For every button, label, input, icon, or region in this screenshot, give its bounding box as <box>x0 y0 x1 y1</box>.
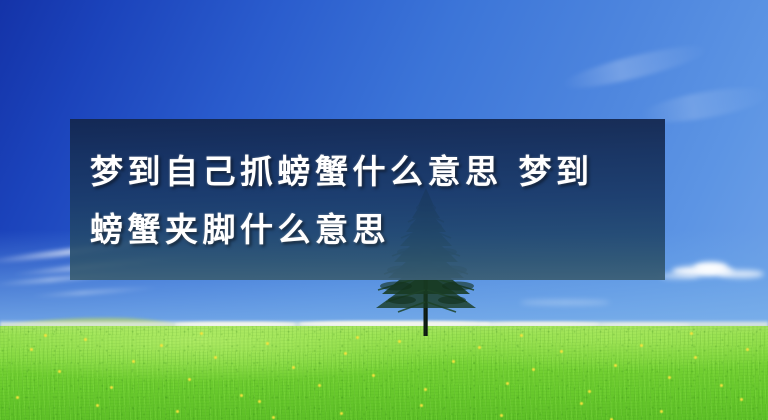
flower-speck <box>580 402 583 405</box>
flower-speck <box>640 344 643 347</box>
flower-speck <box>588 390 591 393</box>
flower-speck <box>200 332 203 335</box>
headline-line-2: 螃蟹夹脚什么意思 <box>90 201 665 259</box>
flower-speck <box>58 370 61 373</box>
flower-speck <box>740 398 743 401</box>
flower-speck <box>420 404 423 407</box>
flower-speck <box>84 338 87 341</box>
flower-speck <box>690 332 693 335</box>
headline-banner: 梦到自己抓螃蟹什么意思 梦到 螃蟹夹脚什么意思 <box>70 119 665 280</box>
flower-speck <box>746 348 749 351</box>
flower-speck <box>110 386 113 389</box>
flower-speck <box>424 388 427 391</box>
flower-speck <box>30 348 33 351</box>
flower-speck <box>160 344 163 347</box>
flower-speck <box>500 414 503 417</box>
flower-speck <box>266 342 269 345</box>
flower-speck <box>560 350 563 353</box>
flower-speck <box>398 340 401 343</box>
screenshot-canvas: 梦到自己抓螃蟹什么意思 梦到 螃蟹夹脚什么意思 <box>0 0 768 420</box>
flower-speck <box>214 356 217 359</box>
flower-speck <box>318 384 321 387</box>
headline-line-1: 梦到自己抓螃蟹什么意思 梦到 <box>90 143 665 201</box>
flower-speck <box>668 376 671 379</box>
grass-field <box>0 326 768 420</box>
flower-speck <box>340 412 343 415</box>
flower-speck <box>720 384 723 387</box>
flower-speck <box>506 382 509 385</box>
flower-speck <box>344 352 347 355</box>
flower-speck <box>132 360 135 363</box>
flower-speck <box>356 336 359 339</box>
flower-speck <box>372 374 375 377</box>
flower-speck <box>44 334 47 337</box>
grass-speckle <box>0 326 768 420</box>
flower-speck <box>188 378 191 381</box>
flower-speck <box>452 360 455 363</box>
flower-speck <box>532 368 535 371</box>
flower-speck <box>614 364 617 367</box>
flower-speck <box>16 396 19 399</box>
flower-speck <box>240 394 243 397</box>
flower-speck <box>258 400 261 403</box>
flower-speck <box>96 404 99 407</box>
flower-speck <box>292 366 295 369</box>
flower-speck <box>660 410 663 413</box>
flower-speck <box>478 346 481 349</box>
flower-speck <box>520 334 523 337</box>
flower-speck <box>694 356 697 359</box>
flower-speck <box>176 410 179 413</box>
flower-speck <box>272 416 275 419</box>
